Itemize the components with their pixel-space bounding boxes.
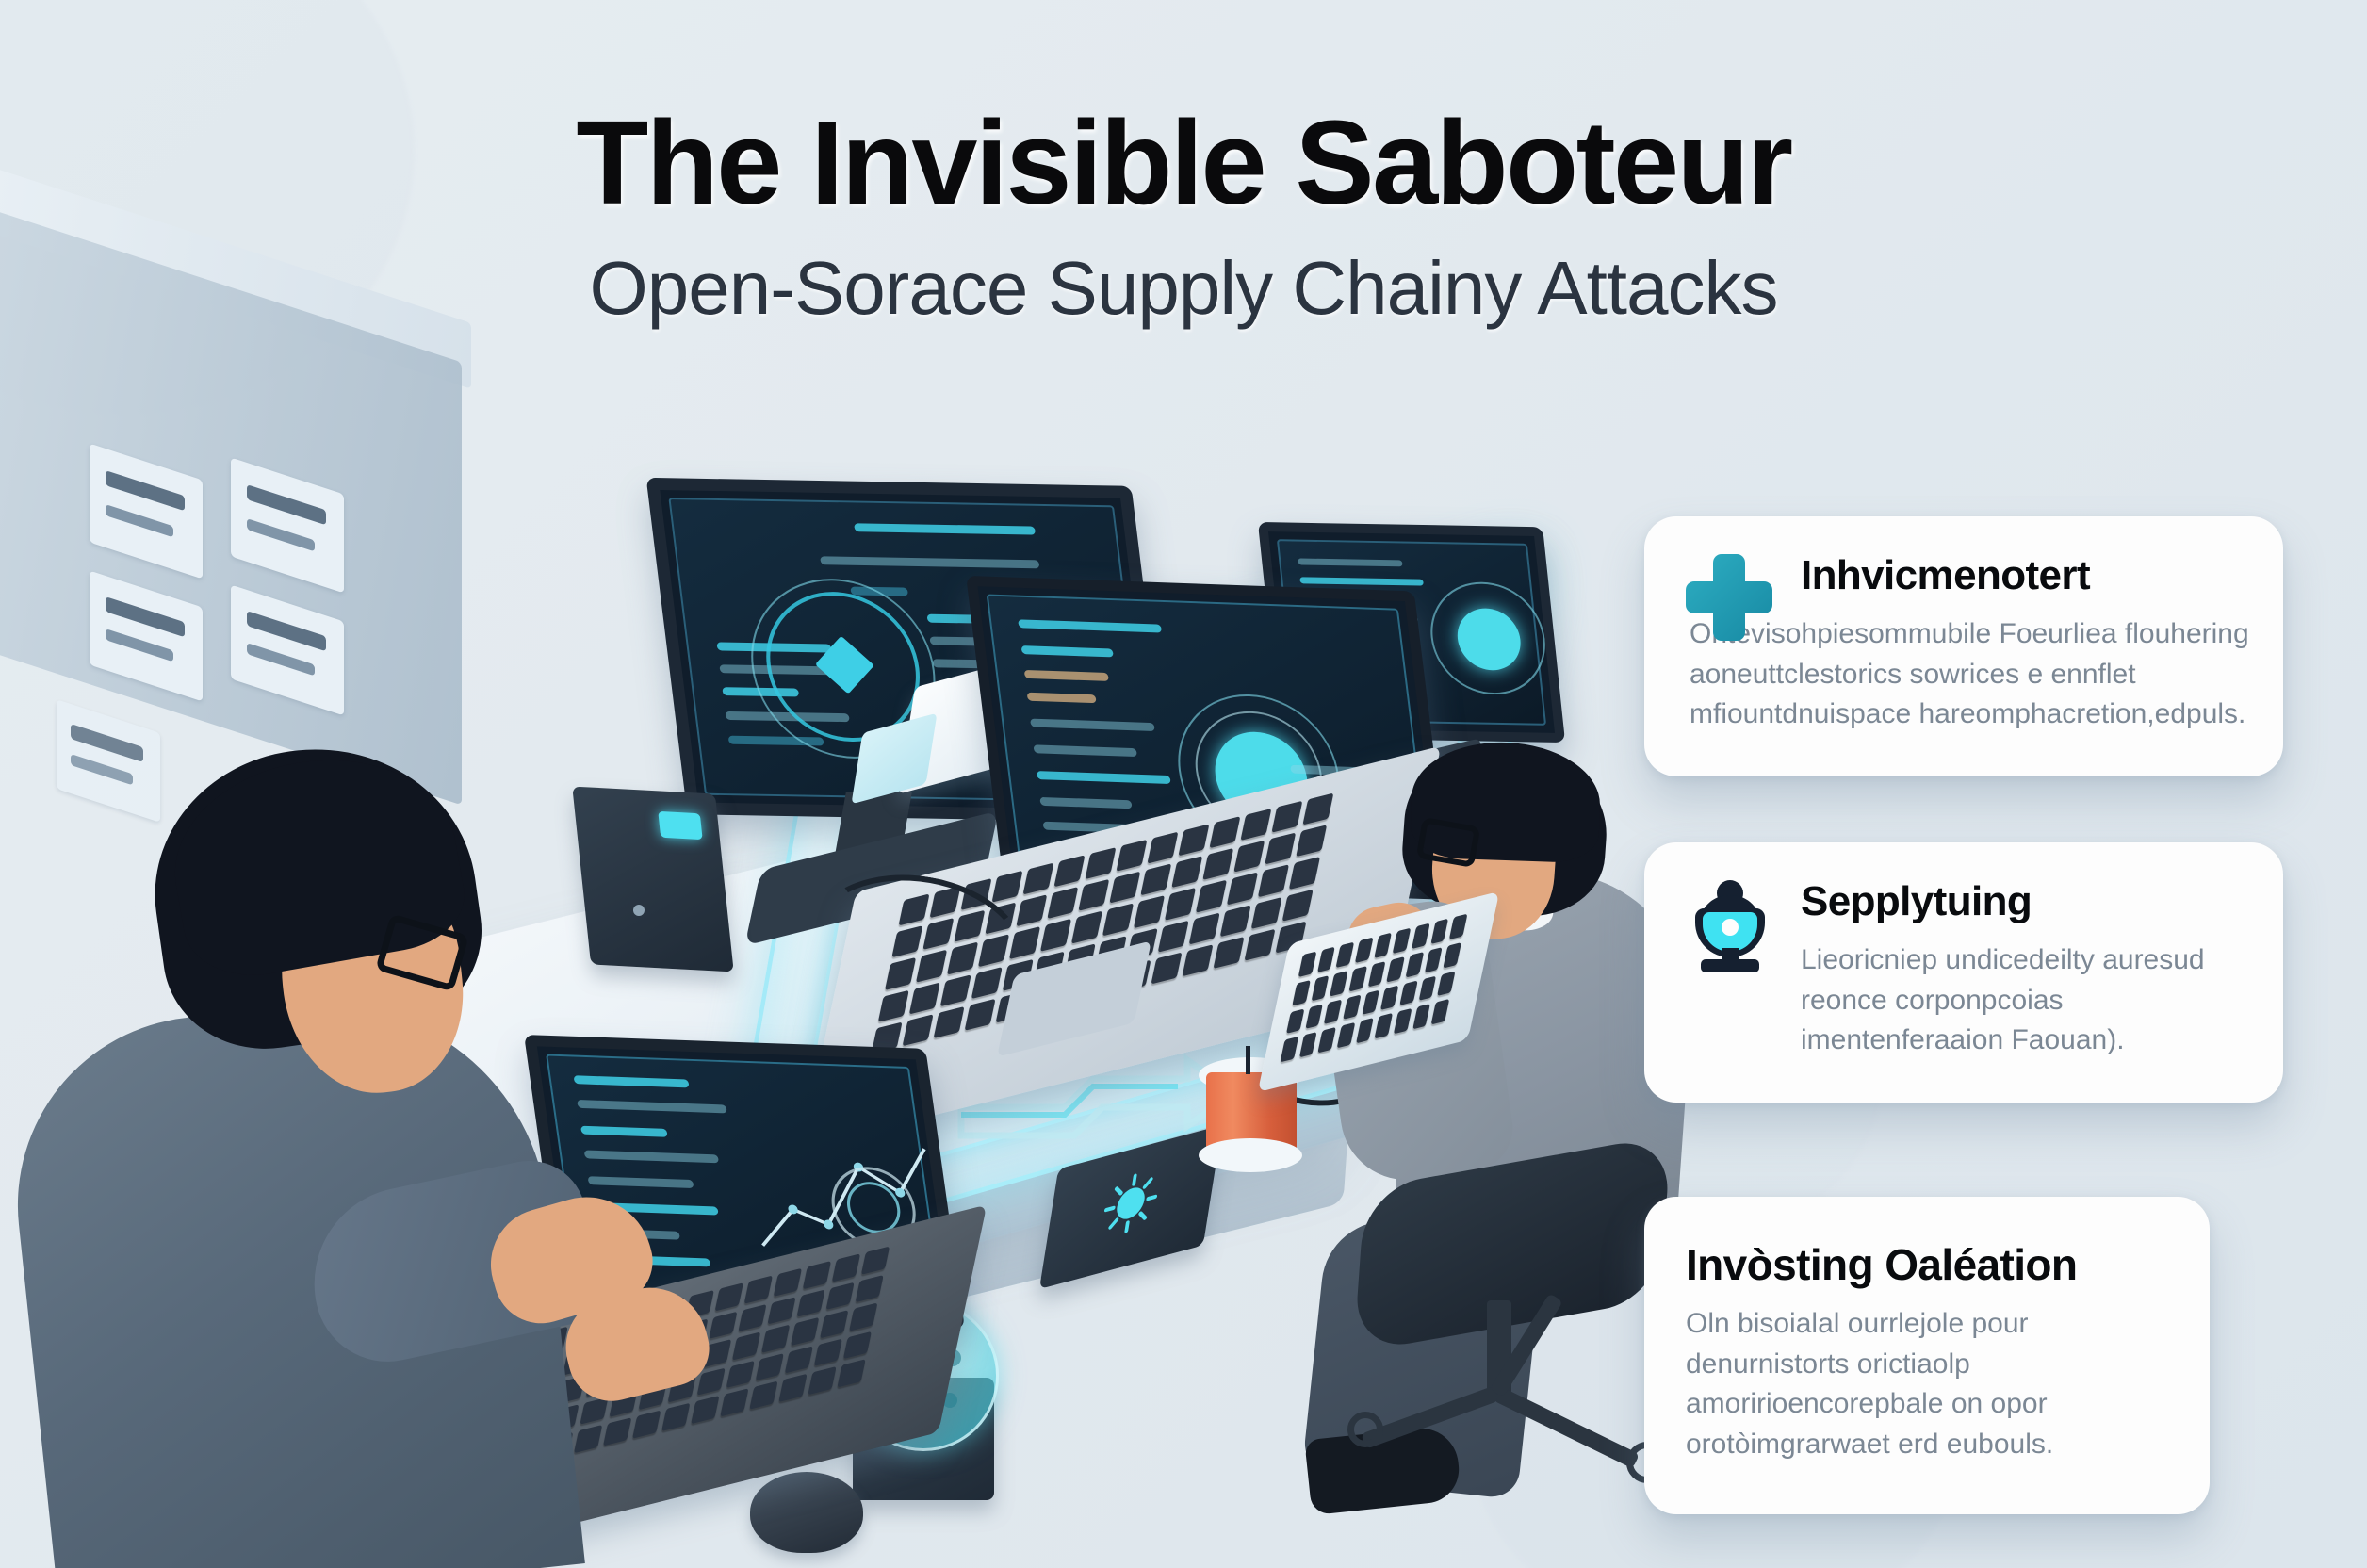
poster-header: The Invisible Saboteur Open-Sorace Suppl… bbox=[0, 104, 2367, 326]
poster-subtitle: Open-Sorace Supply Chainy Attacks bbox=[0, 251, 2367, 326]
feature-card-text: Invòsting Oaléation Oln bisoialal ourrle… bbox=[1686, 1242, 2168, 1465]
tower-pc bbox=[572, 787, 734, 972]
feature-card-title: Sepplytuing bbox=[1801, 880, 2242, 923]
spool-bottom-cap bbox=[1199, 1138, 1302, 1172]
feature-card-list: Inhvicmenotert Ontevisohpiesommubile Foe… bbox=[1644, 516, 2304, 1514]
feature-card[interactable]: Sepplytuing Lieoricniep undicedeilty aur… bbox=[1644, 842, 2283, 1102]
infographic-poster: The Invisible Saboteur Open-Sorace Suppl… bbox=[0, 0, 2367, 1568]
feature-card-body: Ontevisohpiesommubile Foeurliea flouheri… bbox=[1690, 614, 2293, 735]
feature-card-text: Inhvicmenotert Ontevisohpiesommubile Foe… bbox=[1801, 554, 2242, 735]
feature-card[interactable]: Inhvicmenotert Ontevisohpiesommubile Foe… bbox=[1644, 516, 2283, 776]
feature-card-body: Lieoricniep undicedeilty auresud reonce … bbox=[1801, 940, 2242, 1061]
feature-card-title: Inhvicmenotert bbox=[1801, 554, 2242, 597]
feature-card-title: Invòsting Oaléation bbox=[1686, 1242, 2168, 1287]
tower-pc-dot bbox=[633, 905, 645, 916]
feature-card[interactable]: Invòsting Oaléation Oln bisoialal ourrle… bbox=[1644, 1197, 2210, 1514]
office-chair-caster bbox=[1347, 1412, 1383, 1447]
feature-card-text: Sepplytuing Lieoricniep undicedeilty aur… bbox=[1801, 880, 2242, 1061]
feature-card-body: Oln bisoialal ourrlejole pour denurnisto… bbox=[1686, 1304, 2168, 1464]
tower-pc-led bbox=[658, 811, 702, 840]
poster-title: The Invisible Saboteur bbox=[0, 104, 2367, 222]
cabinet-drawer bbox=[57, 699, 160, 823]
computer-mouse[interactable] bbox=[750, 1472, 863, 1553]
shield-trophy-icon bbox=[1686, 880, 1772, 972]
plus-cross-icon bbox=[1686, 554, 1772, 646]
spool-needle-icon bbox=[1246, 1046, 1250, 1074]
